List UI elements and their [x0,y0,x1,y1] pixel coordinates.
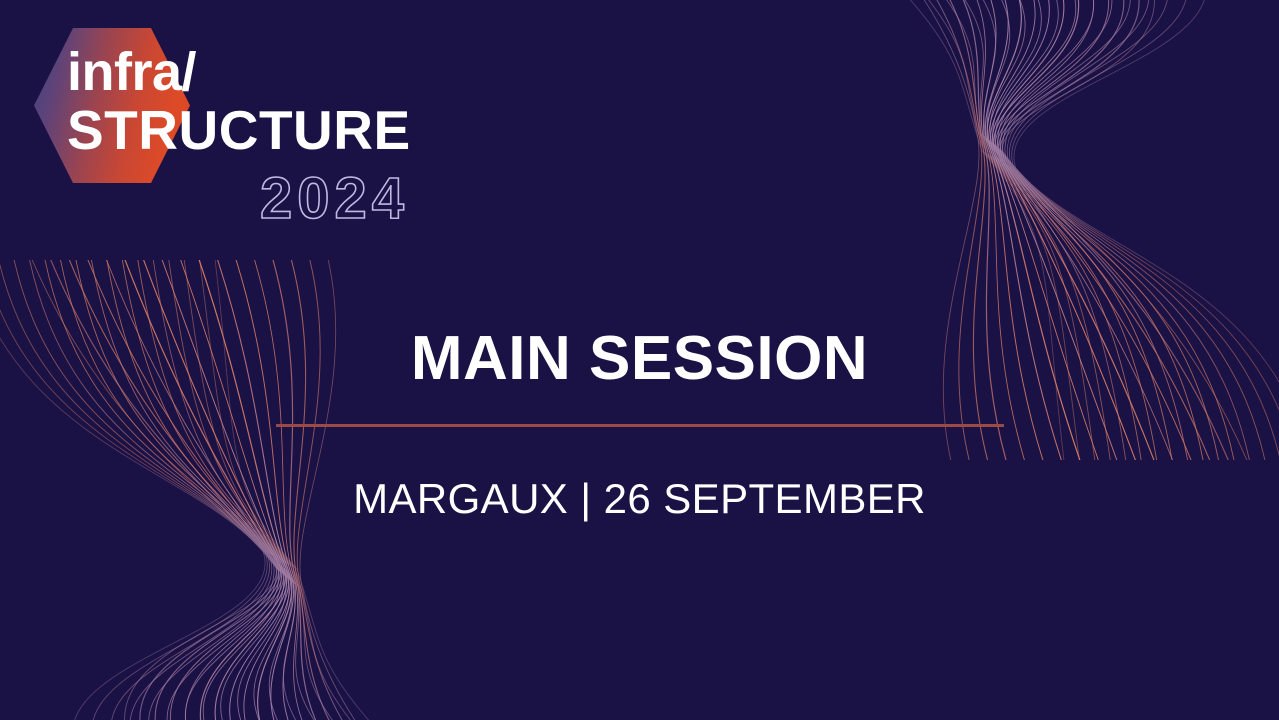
session-block: MAIN SESSION MARGAUX | 26 SEPTEMBER [0,316,1279,527]
logo-year: 2024 [260,168,409,230]
logo-line-infra: infra/ [67,20,411,102]
session-meta: MARGAUX | 26 SEPTEMBER [0,471,1279,527]
presentation-slide: infra/ STRUCTURE 2024 MAIN SESSION MARGA… [0,0,1279,720]
event-logo: infra/ STRUCTURE 2024 [34,20,554,235]
title-divider [276,424,1004,427]
logo-line-structure: STRUCTURE [67,102,411,158]
page-title: MAIN SESSION [0,316,1279,402]
logo-wordmark: infra/ STRUCTURE [67,20,411,158]
